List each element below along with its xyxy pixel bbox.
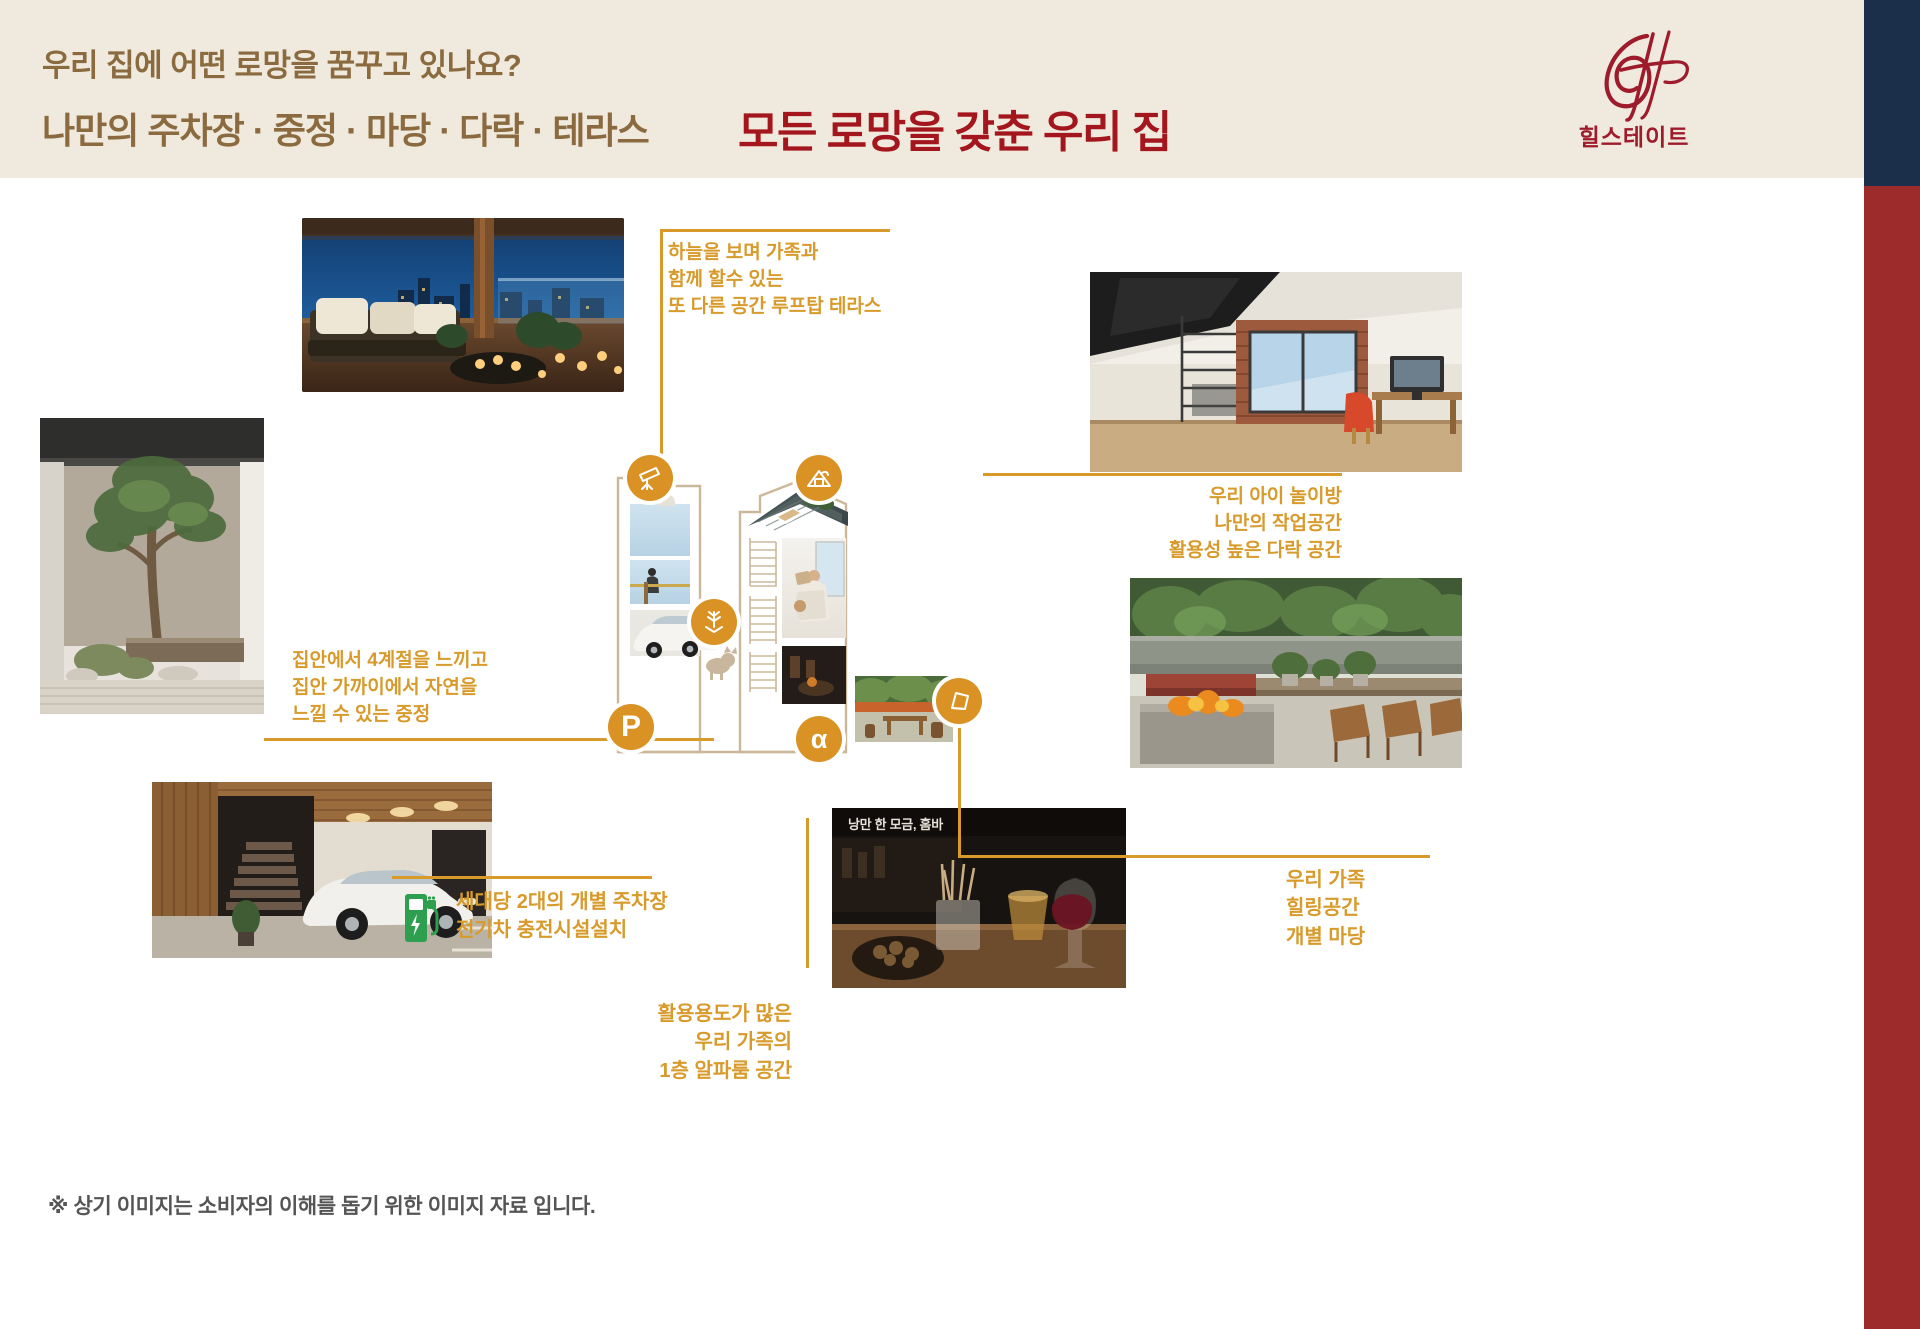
alpha-room-photo: 낭만 한 모금, 홈바	[832, 808, 1126, 988]
alpha-callout-rule	[806, 818, 809, 968]
header-highlight: 모든 로망을 갖춘 우리 집	[738, 96, 1171, 160]
hillstate-logo: 힐스테이트	[1534, 30, 1734, 152]
attic-callout-rule	[1082, 473, 1342, 476]
attic-leader-line	[983, 473, 1093, 476]
parking-leader-line	[498, 876, 628, 879]
crimson-bar	[1864, 186, 1920, 1329]
disclaimer-footnote: ※ 상기 이미지는 소비자의 이해를 돕기 위한 이미지 자료 입니다.	[48, 1190, 595, 1220]
callout-alpha-room: 활용용도가 많은 우리 가족의 1층 알파룸 공간	[546, 1000, 792, 1085]
navy-bar	[1864, 0, 1920, 186]
right-color-bars	[1864, 0, 1920, 1329]
yard-photo	[1130, 578, 1462, 768]
attic-photo	[1090, 272, 1462, 472]
telescope-icon[interactable]	[627, 455, 673, 501]
header-question: 우리 집에 어떤 로망을 꿈꾸고 있나요?	[42, 40, 521, 85]
alpha-icon[interactable]: α	[796, 716, 842, 762]
alpha-badge-letter: α	[811, 726, 828, 753]
yard-leader-vertical	[958, 706, 961, 858]
callout-courtyard: 집안에서 4계절을 느끼고 집안 가까이에서 자연을 느낄 수 있는 중정	[292, 648, 488, 729]
callout-private-yard: 우리 가족 힐링공간 개별 마당	[1286, 866, 1365, 951]
callout-attic: 우리 아이 놀이방 나만의 작업공간 활용성 높은 다락 공간	[882, 484, 1342, 565]
attic-glyph-icon	[805, 464, 833, 492]
callout-parking: 세대당 2대의 개별 주차장 전기차 충전시설설치	[456, 888, 668, 945]
callout-rooftop-terrace: 하늘을 보며 가족과 함께 할수 있는 또 다른 공간 루프탑 테라스	[668, 240, 881, 321]
alpha-photo-caption: 낭만 한 모금, 홈바	[848, 814, 943, 833]
telescope-glyph-icon	[636, 464, 664, 492]
parking-icon[interactable]: P	[608, 704, 654, 750]
ev-charger-glyph-icon	[403, 890, 443, 945]
rooftop-terrace-photo	[302, 218, 624, 392]
rooftop-callout-rule	[660, 229, 890, 232]
logo-wordmark: 힐스테이트	[1534, 118, 1734, 152]
tree-icon[interactable]	[691, 599, 737, 645]
hillstate-h-monogram-icon	[1569, 30, 1699, 122]
tree-glyph-icon	[700, 608, 728, 636]
ev-charger-icon	[403, 890, 443, 945]
yard-icon[interactable]	[936, 678, 982, 724]
page-header: 우리 집에 어떤 로망을 꿈꾸고 있나요? 나만의 주차장 · 중정 · 마당 …	[0, 0, 1864, 178]
yard-callout-rule	[1230, 855, 1430, 858]
rooftop-terrace-image	[302, 218, 624, 392]
courtyard-image	[40, 418, 264, 714]
attic-image	[1090, 272, 1462, 472]
yard-glyph-icon	[945, 687, 973, 715]
attic-icon[interactable]	[796, 455, 842, 501]
header-feature-list: 나만의 주차장 · 중정 · 마당 · 다락 · 테라스	[42, 102, 649, 154]
yard-leader-line	[958, 855, 1248, 858]
alpha-room-image	[832, 808, 1126, 988]
rooftop-leader-line	[660, 229, 663, 483]
courtyard-photo	[40, 418, 264, 714]
yard-image	[1130, 578, 1462, 768]
parking-badge-letter: P	[621, 712, 641, 742]
